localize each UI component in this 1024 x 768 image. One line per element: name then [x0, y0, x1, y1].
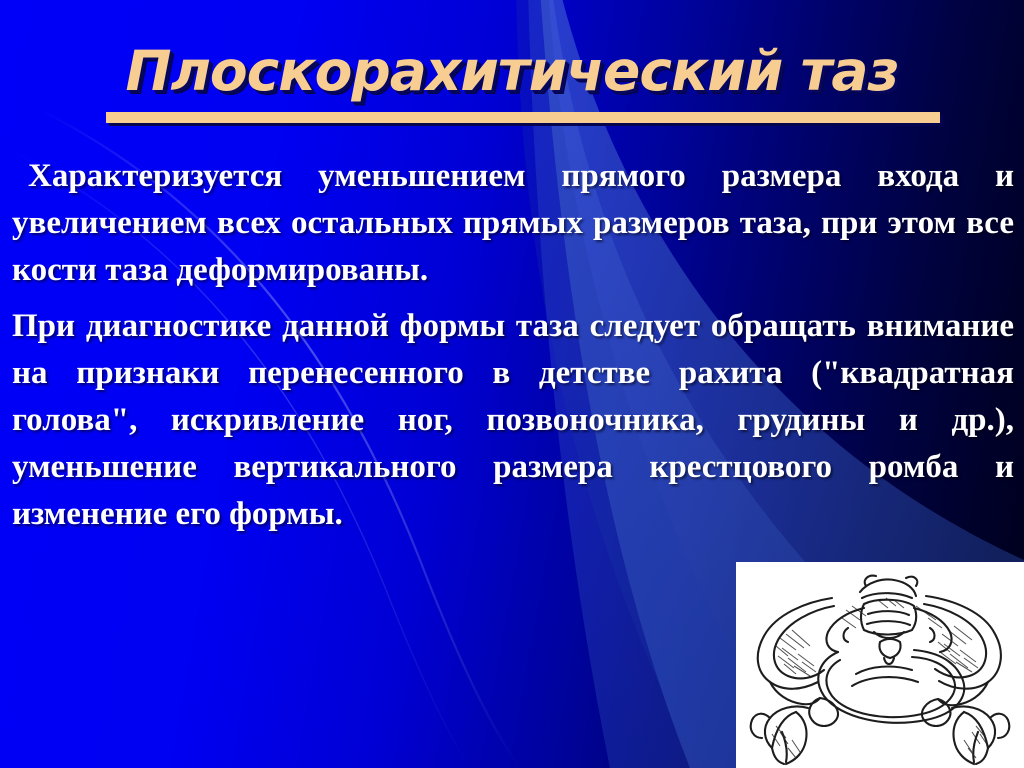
body-paragraph-1-text: Характеризуется уменьшением прямого разм… [12, 158, 1014, 288]
flat-rachitic-pelvis-illustration [736, 562, 1024, 768]
slide-title-text: Плоскорахитический таз [120, 44, 905, 99]
slide-body: Характеризуется уменьшением прямого разм… [12, 153, 1014, 547]
slide-title: Плоскорахитический таз [0, 44, 1024, 99]
slide-canvas: Плоскорахитический таз Характеризуется у… [0, 0, 1024, 768]
body-paragraph-2-text: При диагностике данной формы таза следуе… [12, 308, 1014, 532]
body-paragraph-2: При диагностике данной формы таза следуе… [12, 303, 1014, 538]
body-paragraph-1: Характеризуется уменьшением прямого разм… [12, 153, 1014, 294]
pelvis-figure-panel [736, 562, 1024, 768]
title-underline-rule [106, 112, 940, 123]
